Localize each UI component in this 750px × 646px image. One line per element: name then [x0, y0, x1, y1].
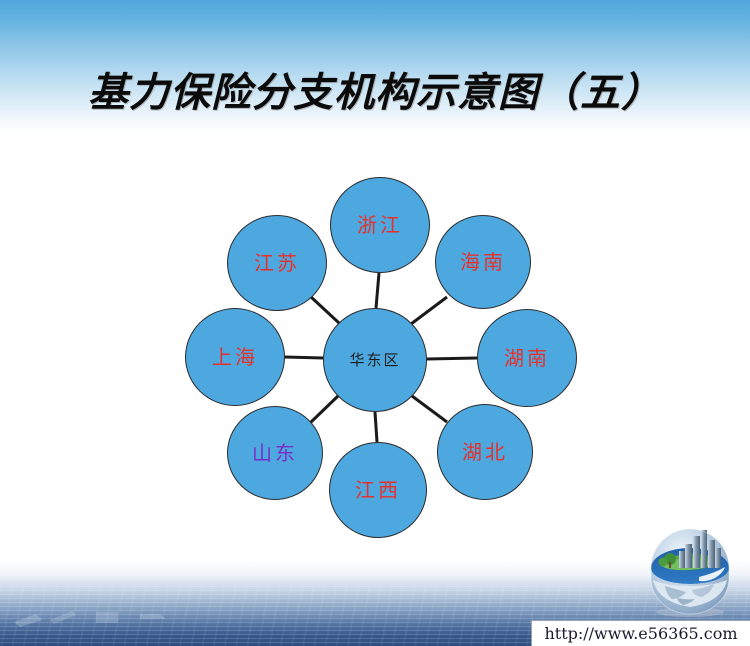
globe-city-logo-icon	[637, 524, 743, 620]
diagram-node-label: 湖北	[462, 442, 508, 462]
diagram-node-hunan[interactable]: 湖南	[477, 309, 577, 407]
org-structure-diagram: 浙江 海南 湖南 湖北 江西 山东 上海 江苏 华东区	[175, 160, 595, 540]
diagram-node-jiangsu[interactable]: 江苏	[227, 215, 327, 311]
diagram-node-label: 江西	[355, 480, 401, 500]
website-url-text: http://www.e56365.com	[544, 624, 737, 643]
ocean-glint-shapes	[10, 602, 250, 632]
page-title: 基力保险分支机构示意图（五）	[0, 60, 750, 118]
diagram-node-shanghai[interactable]: 上海	[185, 308, 285, 406]
diagram-node-label: 浙江	[357, 215, 403, 235]
website-url-box[interactable]: http://www.e56365.com	[531, 620, 750, 646]
diagram-node-center-huadong[interactable]: 华东区	[323, 308, 427, 412]
diagram-node-hainan[interactable]: 海南	[435, 215, 531, 309]
diagram-node-label: 上海	[212, 347, 258, 367]
diagram-node-jiangxi[interactable]: 江西	[329, 442, 427, 538]
diagram-node-label: 江苏	[254, 253, 300, 273]
diagram-center-label: 华东区	[349, 353, 400, 368]
diagram-node-label: 海南	[460, 252, 506, 272]
diagram-node-label: 山东	[252, 443, 298, 463]
diagram-node-label: 湖南	[504, 348, 550, 368]
diagram-node-shandong[interactable]: 山东	[227, 406, 323, 500]
diagram-node-hubei[interactable]: 湖北	[437, 404, 533, 500]
diagram-node-zhejiang[interactable]: 浙江	[330, 177, 430, 273]
slide-canvas: 基力保险分支机构示意图（五） 浙江 海南 湖南 湖北	[0, 0, 750, 646]
